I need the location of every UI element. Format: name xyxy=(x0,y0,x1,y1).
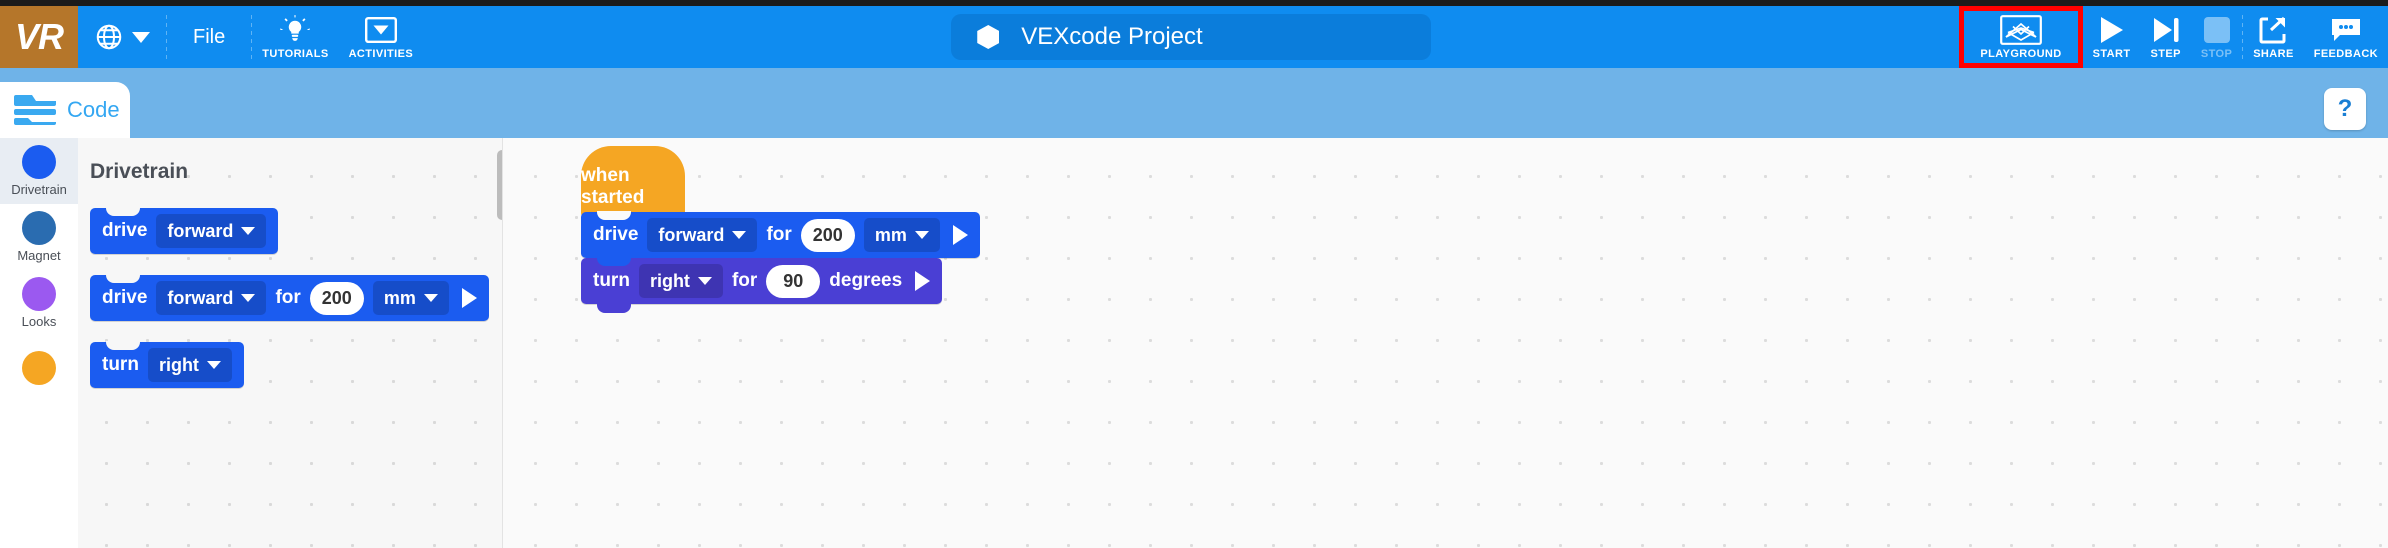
category-color-dot xyxy=(22,277,56,311)
run-arrow-icon[interactable] xyxy=(915,271,930,291)
distance-input[interactable]: 200 xyxy=(801,219,855,252)
secondary-bar xyxy=(0,68,2388,138)
block-verb: turn xyxy=(593,270,630,292)
chevron-down-icon xyxy=(732,231,746,239)
palette-block-drive[interactable]: drive forward xyxy=(90,208,278,254)
chevron-down-icon xyxy=(207,361,221,369)
for-label: for xyxy=(275,287,300,309)
direction-value: right xyxy=(650,271,690,292)
lightbulb-icon xyxy=(280,15,310,45)
block-palette[interactable]: Drivetrain drive forward drive forward f… xyxy=(78,138,502,548)
code-blocks-icon xyxy=(14,95,56,125)
stop-button[interactable]: STOP xyxy=(2191,6,2242,68)
share-button[interactable]: SHARE xyxy=(2243,6,2304,68)
code-workspace[interactable]: when started drive forward for 200 mm tu… xyxy=(502,138,2388,548)
category-color-dot xyxy=(22,211,56,245)
for-label: for xyxy=(732,270,757,292)
playground-button[interactable]: PLAYGROUND xyxy=(1964,11,2077,63)
project-name-field[interactable]: VEXcode Project xyxy=(951,14,1431,60)
category-color-dot xyxy=(22,351,56,385)
unit-label: degrees xyxy=(829,270,902,292)
category-rail: Drivetrain Magnet Looks xyxy=(0,138,78,548)
chevron-down-icon xyxy=(132,32,150,43)
block-verb: drive xyxy=(102,287,147,309)
step-button[interactable]: STEP xyxy=(2140,6,2190,68)
stop-square-icon xyxy=(2203,15,2231,45)
share-icon xyxy=(2258,15,2288,45)
direction-value: forward xyxy=(658,225,724,246)
category-looks[interactable]: Looks xyxy=(0,270,78,336)
chevron-down-icon xyxy=(698,277,712,285)
activities-label: ACTIVITIES xyxy=(349,48,414,60)
unit-value: mm xyxy=(384,288,416,309)
help-button[interactable]: ? xyxy=(2324,88,2366,130)
block-verb: turn xyxy=(102,354,139,376)
tutorials-button[interactable]: TUTORIALS xyxy=(252,6,338,68)
step-label: STEP xyxy=(2150,48,2180,60)
chevron-down-icon xyxy=(241,294,255,302)
block-drive-forward[interactable]: drive forward for 200 mm xyxy=(581,212,980,258)
block-verb: drive xyxy=(102,220,147,242)
block-when-started[interactable]: when started xyxy=(581,146,685,218)
category-drivetrain[interactable]: Drivetrain xyxy=(0,138,78,204)
direction-dropdown[interactable]: right xyxy=(639,264,723,298)
tutorials-label: TUTORIALS xyxy=(262,48,328,60)
category-label: Drivetrain xyxy=(11,182,67,197)
unit-value: mm xyxy=(875,225,907,246)
direction-dropdown[interactable]: forward xyxy=(647,218,757,252)
activities-box-icon xyxy=(365,15,397,45)
palette-block-turn[interactable]: turn right xyxy=(90,342,244,388)
editor-stage: Drivetrain Magnet Looks Drivetrain drive… xyxy=(0,138,2388,548)
unit-dropdown[interactable]: mm xyxy=(373,281,449,315)
direction-value: forward xyxy=(167,288,233,309)
distance-input[interactable]: 200 xyxy=(310,282,364,315)
block-verb: drive xyxy=(593,224,638,246)
hexagon-icon xyxy=(977,25,999,49)
feedback-label: FEEDBACK xyxy=(2314,48,2378,60)
toolbar-spacer-left xyxy=(423,6,951,68)
vexcode-vr-window: VR File TUTO xyxy=(0,0,2388,548)
globe-icon xyxy=(94,22,124,52)
chevron-down-icon xyxy=(241,227,255,235)
direction-dropdown[interactable]: right xyxy=(148,348,232,382)
playground-field-icon xyxy=(2000,15,2042,45)
category-label: Magnet xyxy=(17,248,60,263)
palette-block-drive-for[interactable]: drive forward for 200 mm xyxy=(90,275,489,321)
start-label: START xyxy=(2093,48,2131,60)
stop-label: STOP xyxy=(2201,48,2232,60)
unit-dropdown[interactable]: mm xyxy=(864,218,940,252)
run-arrow-icon[interactable] xyxy=(953,225,968,245)
start-button[interactable]: START xyxy=(2083,6,2141,68)
category-next[interactable] xyxy=(0,336,78,402)
direction-dropdown[interactable]: forward xyxy=(156,214,266,248)
chevron-down-icon xyxy=(424,294,438,302)
code-tab-label: Code xyxy=(67,97,120,123)
category-label: Looks xyxy=(22,314,57,329)
vr-logo: VR xyxy=(0,6,78,68)
playground-highlight-box: PLAYGROUND xyxy=(1959,6,2082,68)
tab-code[interactable]: Code xyxy=(0,82,130,138)
category-color-dot xyxy=(22,145,56,179)
chevron-down-icon xyxy=(915,231,929,239)
direction-value: forward xyxy=(167,221,233,242)
when-started-label: when started xyxy=(581,165,685,209)
file-menu-button[interactable]: File xyxy=(167,6,251,68)
main-toolbar: VR File TUTO xyxy=(0,6,2388,68)
direction-dropdown[interactable]: forward xyxy=(156,281,266,315)
language-selector[interactable] xyxy=(78,6,166,68)
block-turn-right[interactable]: turn right for 90 degrees xyxy=(581,258,942,304)
run-arrow-icon[interactable] xyxy=(462,288,477,308)
angle-input[interactable]: 90 xyxy=(766,265,820,298)
for-label: for xyxy=(766,224,791,246)
playground-label: PLAYGROUND xyxy=(1980,48,2061,60)
step-icon xyxy=(2151,15,2181,45)
feedback-button[interactable]: FEEDBACK xyxy=(2304,6,2388,68)
palette-section-title: Drivetrain xyxy=(90,160,188,184)
direction-value: right xyxy=(159,355,199,376)
share-label: SHARE xyxy=(2253,48,2294,60)
speech-bubble-icon xyxy=(2330,15,2362,45)
category-magnet[interactable]: Magnet xyxy=(0,204,78,270)
project-title: VEXcode Project xyxy=(1021,23,1202,51)
play-icon xyxy=(2098,15,2126,45)
activities-button[interactable]: ACTIVITIES xyxy=(339,6,424,68)
toolbar-spacer-right xyxy=(1431,6,1959,68)
